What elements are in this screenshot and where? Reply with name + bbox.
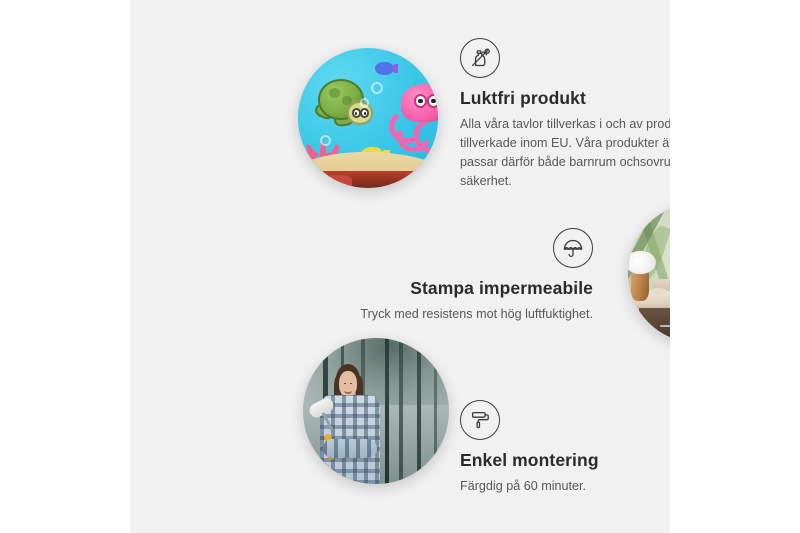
fish-illustration bbox=[375, 62, 393, 75]
feature-image-easy-installation bbox=[303, 338, 449, 484]
feature-title: Stampa impermeabile bbox=[335, 278, 593, 300]
feature-body: Tryck med resistens mot hög luftfuktighe… bbox=[335, 305, 593, 324]
feature-title: Enkel montering bbox=[460, 450, 670, 472]
underwater-scene bbox=[298, 48, 438, 188]
paint-roller-icon bbox=[460, 400, 500, 440]
bubble-icon bbox=[371, 82, 383, 94]
photo-bottom-band bbox=[298, 171, 438, 188]
forest-portrait-scene bbox=[303, 338, 449, 484]
feature-block-waterproof-print: Stampa impermeabile Tryck med resistens … bbox=[335, 228, 593, 324]
feature-image-odor-free bbox=[298, 48, 438, 188]
feature-panel: Luktfri produkt Alla våra tavlor tillver… bbox=[130, 0, 670, 533]
feature-block-easy-installation: Enkel montering Färgdig på 60 minuter. bbox=[460, 400, 670, 496]
octopus-illustration bbox=[388, 84, 438, 148]
feature-body: Färgdig på 60 minuter. bbox=[460, 477, 670, 496]
no-fragrance-icon bbox=[460, 38, 500, 78]
vanity-cabinet bbox=[639, 308, 670, 343]
feature-body: Alla våra tavlor tillverkas i och av pro… bbox=[460, 115, 670, 191]
feature-image-waterproof-print bbox=[628, 203, 670, 343]
bubble-icon bbox=[360, 98, 370, 108]
screenshot-canvas: Luktfri produkt Alla våra tavlor tillver… bbox=[0, 0, 800, 533]
woman-illustration bbox=[315, 364, 397, 484]
feature-block-odor-free: Luktfri produkt Alla våra tavlor tillver… bbox=[460, 38, 670, 190]
umbrella-icon bbox=[553, 228, 593, 268]
feature-title: Luktfri produkt bbox=[460, 88, 670, 110]
bathroom-scene bbox=[628, 203, 670, 343]
